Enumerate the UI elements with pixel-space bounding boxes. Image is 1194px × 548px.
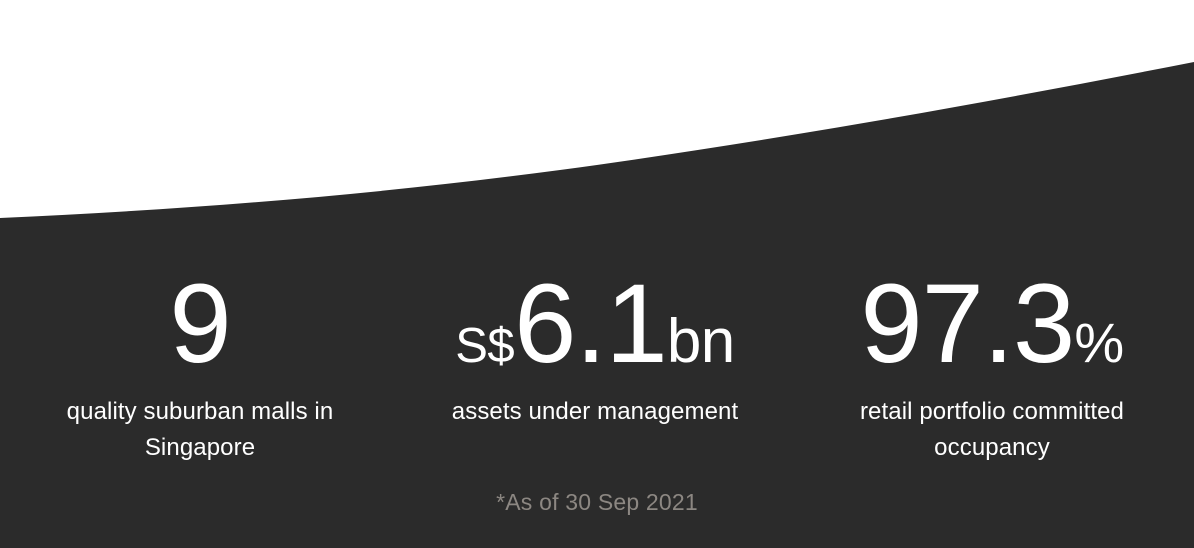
stat-currency-prefix-aum: S$ [455, 322, 514, 371]
stat-percent-suffix-occupancy: % [1074, 315, 1123, 371]
stats-banner: 9 quality suburban malls in Singapore S$… [0, 0, 1194, 548]
stat-label-occupancy: retail portfolio committed occupancy [822, 394, 1162, 466]
stat-label-malls: quality suburban malls in Singapore [35, 394, 365, 466]
stat-unit-suffix-aum: bn [667, 311, 735, 373]
stat-number-malls: 9 [169, 268, 230, 380]
stat-number-occupancy: 97.3 [860, 268, 1074, 380]
stats-row: 9 quality suburban malls in Singapore S$… [0, 268, 1194, 466]
stat-value-malls: 9 [169, 268, 230, 376]
stat-block-occupancy: 97.3 % retail portfolio committed occupa… [790, 268, 1194, 466]
stats-content: 9 quality suburban malls in Singapore S$… [0, 0, 1194, 548]
stats-footnote: *As of 30 Sep 2021 [0, 487, 1194, 517]
stat-value-occupancy: 97.3 % [860, 268, 1123, 376]
stat-label-aum: assets under management [452, 394, 738, 430]
stat-block-malls: 9 quality suburban malls in Singapore [0, 268, 400, 466]
stat-block-aum: S$ 6.1 bn assets under management [400, 268, 790, 430]
stat-number-aum: 6.1 [514, 268, 667, 380]
stat-value-aum: S$ 6.1 bn [455, 268, 735, 376]
